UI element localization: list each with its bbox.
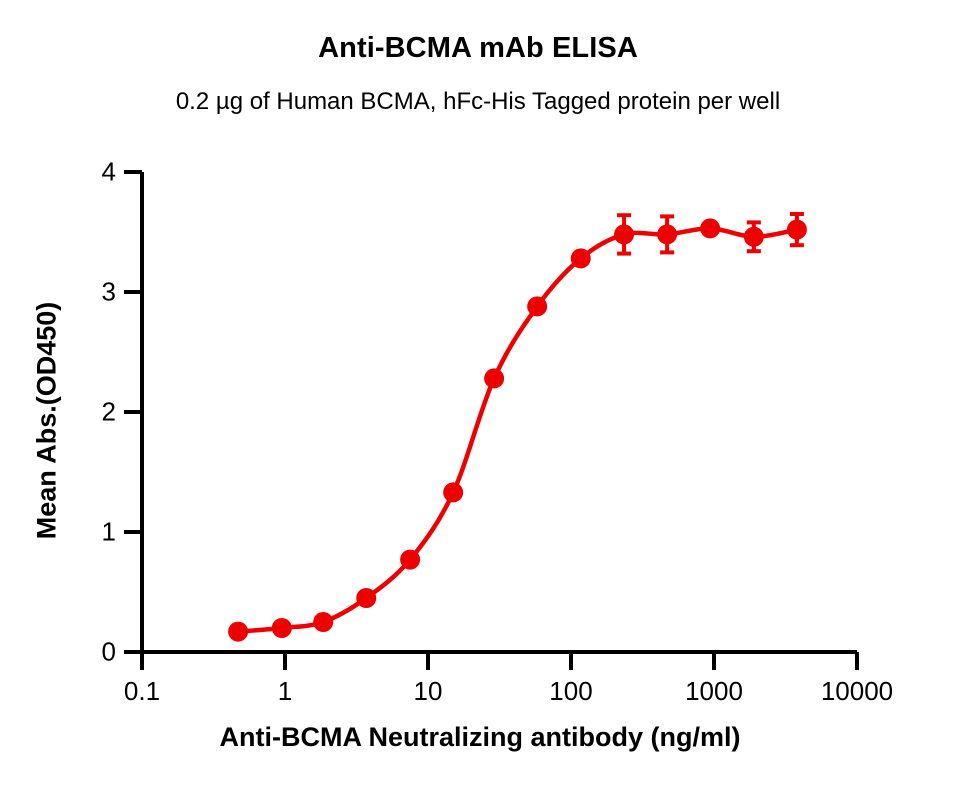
x-tick-label: 1000 xyxy=(685,676,743,707)
x-tick-label: 100 xyxy=(549,676,592,707)
data-point xyxy=(313,612,333,632)
x-tick-label: 0.1 xyxy=(124,676,160,707)
x-axis-title: Anti-BCMA Neutralizing antibody (ng/ml) xyxy=(60,722,900,753)
y-tick-label: 1 xyxy=(80,517,116,548)
data-point xyxy=(787,220,807,240)
data-point xyxy=(272,618,292,638)
x-axis-ticks xyxy=(142,652,857,670)
x-tick-label: 10000 xyxy=(821,676,893,707)
y-axis-ticks xyxy=(124,172,142,652)
error-bars xyxy=(446,214,804,497)
y-tick-label: 2 xyxy=(80,397,116,428)
y-tick-label: 3 xyxy=(80,277,116,308)
data-point xyxy=(400,550,420,570)
x-tick-label: 1 xyxy=(278,676,292,707)
data-point xyxy=(527,296,547,316)
data-point xyxy=(657,224,677,244)
y-tick-label: 0 xyxy=(80,637,116,668)
x-tick-label: 10 xyxy=(414,676,443,707)
data-point xyxy=(228,622,248,642)
data-point xyxy=(443,482,463,502)
data-point xyxy=(571,248,591,268)
chart-figure: Anti-BCMA mAb ELISA 0.2 µg of Human BCMA… xyxy=(0,0,956,800)
data-point xyxy=(356,588,376,608)
data-point xyxy=(614,224,634,244)
data-point-markers xyxy=(228,218,807,641)
data-point xyxy=(484,368,504,388)
y-tick-label: 4 xyxy=(80,157,116,188)
data-point xyxy=(744,227,764,247)
data-point xyxy=(700,218,720,238)
fit-curve xyxy=(238,228,797,631)
y-axis-title: Mean Abs.(OD450) xyxy=(32,211,63,631)
